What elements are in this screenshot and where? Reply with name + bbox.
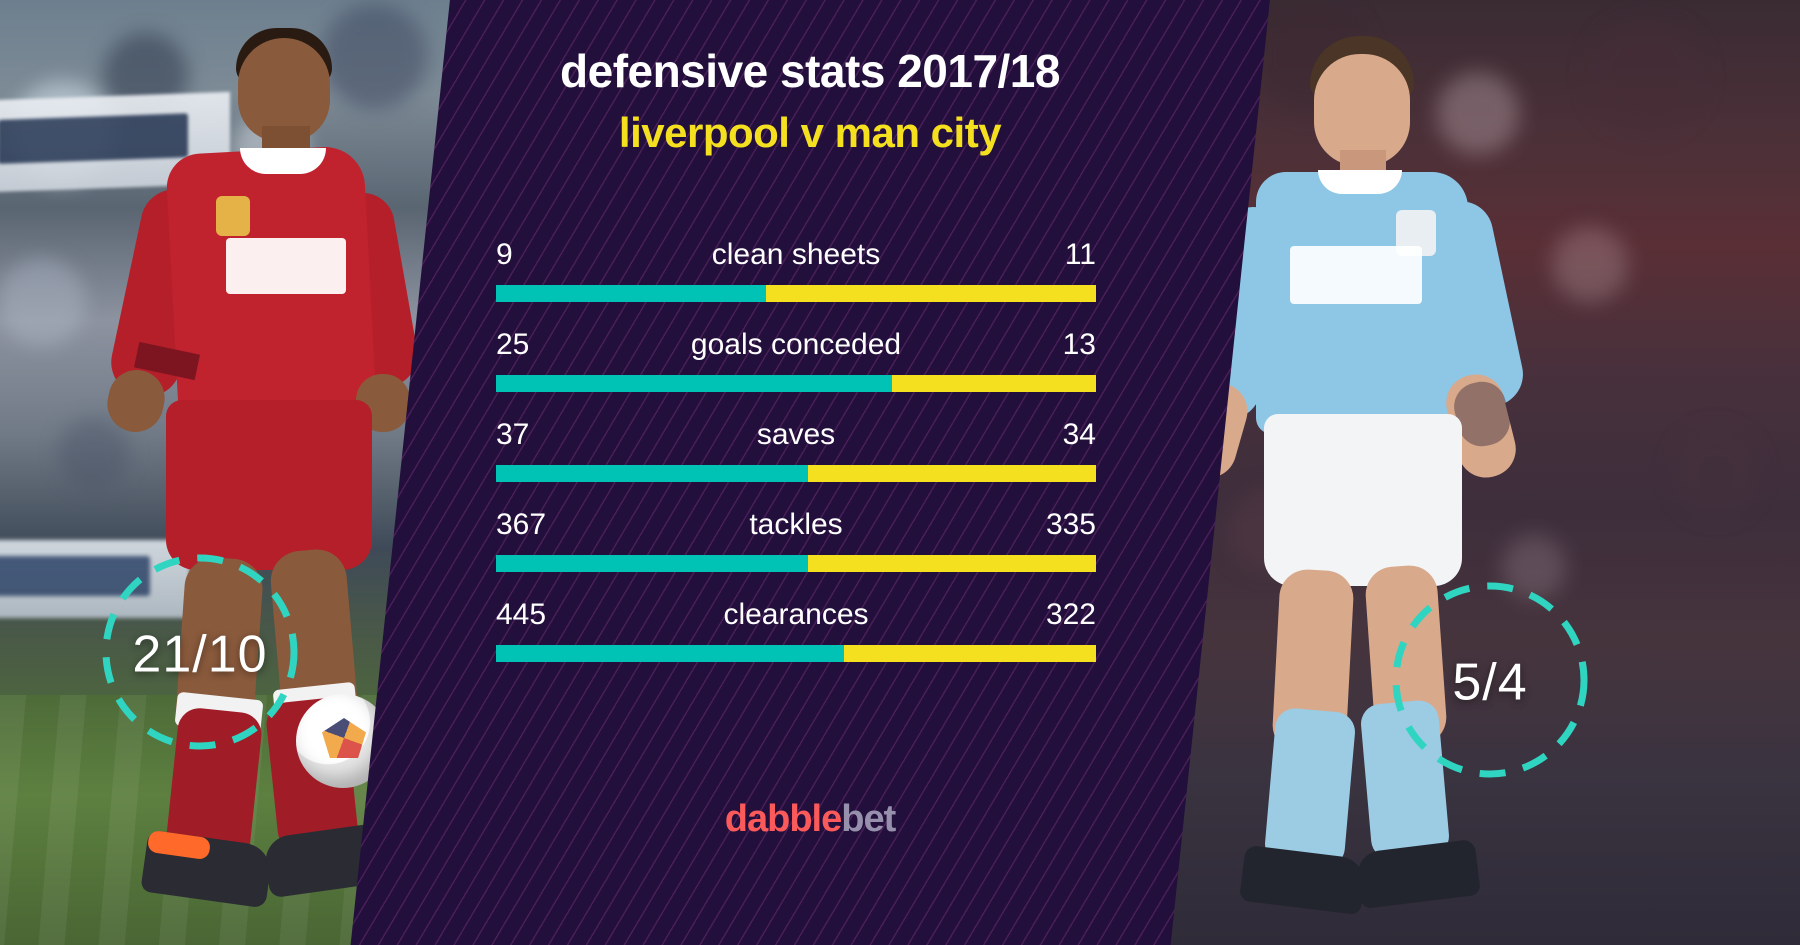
man-city-badge-text: 5/4 [1390, 652, 1590, 712]
away-value-tackles: 335 [1022, 508, 1096, 542]
home-value-tackles: 367 [496, 508, 570, 542]
away-bar-segment [766, 285, 1096, 302]
home-value-goals-conceded: 25 [496, 328, 570, 362]
man-city-badge: 5/4 [1390, 580, 1590, 780]
stat-row-saves: 37 saves 34 [496, 418, 1096, 482]
title-block: defensive stats 2017/18 liverpool v man … [400, 45, 1220, 158]
stat-bar-goals-conceded [496, 375, 1096, 392]
stats-panel: defensive stats 2017/18 liverpool v man … [346, 0, 1274, 945]
home-bar-segment [496, 285, 766, 302]
stat-row-clearances: 445 clearances 322 [496, 598, 1096, 662]
stat-row-goals-conceded: 25 goals conceded 13 [496, 328, 1096, 392]
logo-text-primary: dabble [725, 798, 841, 840]
stat-row-clean-sheets: 9 clean sheets 11 [496, 238, 1096, 302]
home-bar-segment [496, 375, 892, 392]
stat-bar-tackles [496, 555, 1096, 572]
dabblebet-logo[interactable]: dabblebet [400, 798, 1220, 841]
away-value-goals-conceded: 13 [1022, 328, 1096, 362]
stat-bar-saves [496, 465, 1096, 482]
away-bar-segment [844, 645, 1096, 662]
away-bar-segment [892, 375, 1096, 392]
stat-label-tackles: tackles [570, 508, 1022, 542]
stat-row-tackles: 367 tackles 335 [496, 508, 1096, 572]
home-value-clearances: 445 [496, 598, 570, 632]
stat-label-saves: saves [570, 418, 1022, 452]
infographic-canvas: defensive stats 2017/18 liverpool v man … [0, 0, 1800, 945]
away-bar-segment [808, 465, 1096, 482]
page-subtitle: liverpool v man city [400, 108, 1220, 158]
page-title: defensive stats 2017/18 [400, 45, 1220, 98]
stat-label-goals-conceded: goals conceded [570, 328, 1022, 362]
home-value-clean-sheets: 9 [496, 238, 570, 272]
home-bar-segment [496, 465, 808, 482]
liverpool-badge-text: 21/10 [100, 624, 300, 684]
stat-bar-clean-sheets [496, 285, 1096, 302]
liverpool-badge: 21/10 [100, 552, 300, 752]
away-value-clearances: 322 [1022, 598, 1096, 632]
away-value-clean-sheets: 11 [1022, 238, 1096, 272]
home-bar-segment [496, 555, 808, 572]
stats-list: 9 clean sheets 11 25 goals conceded 13 [496, 238, 1096, 688]
home-value-saves: 37 [496, 418, 570, 452]
away-bar-segment [808, 555, 1096, 572]
stat-label-clean-sheets: clean sheets [570, 238, 1022, 272]
away-value-saves: 34 [1022, 418, 1096, 452]
home-bar-segment [496, 645, 844, 662]
stat-bar-clearances [496, 645, 1096, 662]
stat-label-clearances: clearances [570, 598, 1022, 632]
logo-text-secondary: bet [841, 798, 895, 840]
